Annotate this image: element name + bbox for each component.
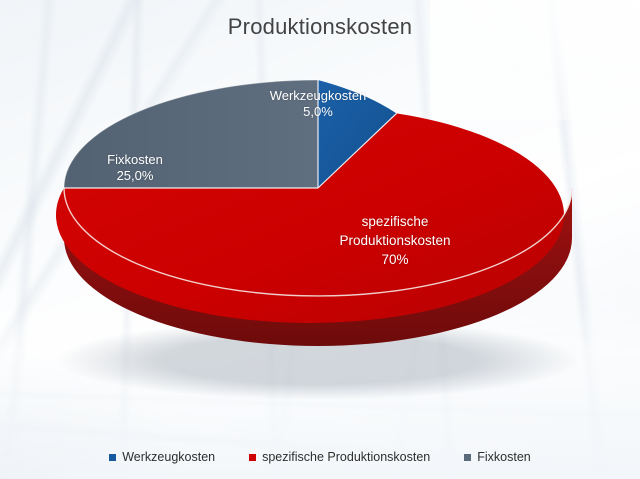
data-label-fixkosten-value: 25,0%	[50, 168, 220, 184]
data-label-spezifische-line1: spezifische	[310, 212, 480, 231]
legend-label-werkzeugkosten: Werkzeugkosten	[122, 450, 215, 464]
data-label-spezifische-produktionskosten: spezifische Produktionskosten 70%	[310, 212, 480, 269]
legend-item-spezifische-produktionskosten[interactable]: spezifische Produktionskosten	[249, 450, 430, 464]
data-label-fixkosten: Fixkosten 25,0%	[50, 152, 220, 184]
legend-swatch-icon-fixkosten	[464, 454, 471, 461]
legend-label-spezifische-produktionskosten: spezifische Produktionskosten	[262, 450, 430, 464]
legend-label-fixkosten: Fixkosten	[477, 450, 531, 464]
data-label-fixkosten-name: Fixkosten	[50, 152, 220, 168]
data-label-werkzeugkosten-name: Werkzeugkosten	[218, 88, 418, 104]
legend-swatch-icon-werkzeugkosten	[109, 454, 116, 461]
legend-item-fixkosten[interactable]: Fixkosten	[464, 450, 531, 464]
data-label-spezifische-line2: Produktionskosten	[310, 231, 480, 250]
data-label-spezifische-value: 70%	[310, 250, 480, 269]
chart-legend: Werkzeugkosten spezifische Produktionsko…	[0, 450, 640, 464]
slide-canvas: Produktionskosten	[0, 0, 640, 479]
data-label-werkzeugkosten-value: 5,0%	[218, 104, 418, 120]
legend-item-werkzeugkosten[interactable]: Werkzeugkosten	[109, 450, 215, 464]
data-label-werkzeugkosten: Werkzeugkosten 5,0%	[218, 88, 418, 120]
legend-swatch-icon-spezifische-produktionskosten	[249, 454, 256, 461]
